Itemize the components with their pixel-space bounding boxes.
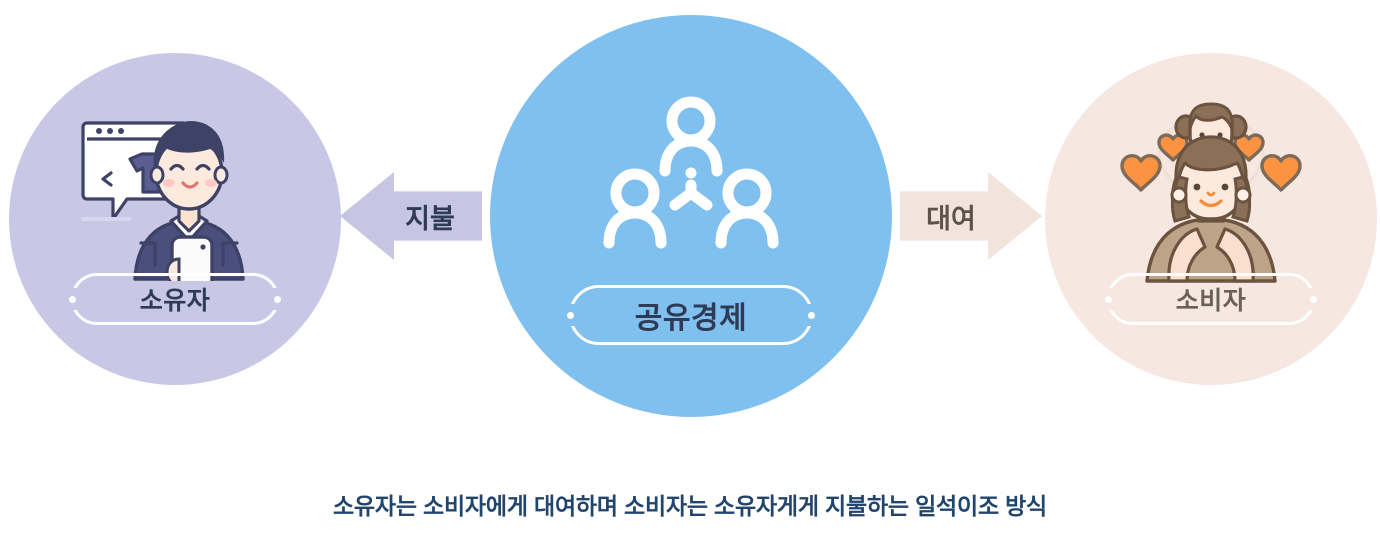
node-consumer[interactable]: 소비자 [1045,53,1377,385]
diagram-canvas: 소유자 지불 [0,0,1380,541]
badge-notch-left-icon [564,304,577,326]
node-owner-badge[interactable]: 소유자 [71,273,279,325]
badge-notch-left-icon [66,288,79,310]
diagram-caption: 소유자는 소비자에게 대여하며 소비자는 소유자게게 지불하는 일석이조 방식 [0,487,1380,521]
three-people-network-icon [601,93,781,268]
node-sharing-economy[interactable]: 공유경제 [490,15,892,417]
person-with-phone-illustration [75,101,275,286]
node-consumer-label: 소비자 [1176,281,1247,317]
badge-notch-right-icon [1307,288,1320,310]
arrow-rental-label: 대여 [926,197,976,236]
arrow-payment-label: 지불 [405,197,455,236]
badge-notch-left-icon [1102,288,1115,310]
node-consumer-badge[interactable]: 소비자 [1107,273,1315,325]
badge-notch-right-icon [805,304,818,326]
node-owner[interactable]: 소유자 [9,53,341,385]
node-sharing-economy-badge[interactable]: 공유경제 [569,285,813,345]
badge-notch-right-icon [271,288,284,310]
arrow-rental[interactable]: 대여 [900,172,1042,260]
node-sharing-economy-label: 공유경제 [635,293,747,337]
node-owner-label: 소유자 [140,281,211,317]
mother-and-child-with-hearts-illustration [1111,99,1311,289]
arrow-payment[interactable]: 지불 [340,172,482,260]
